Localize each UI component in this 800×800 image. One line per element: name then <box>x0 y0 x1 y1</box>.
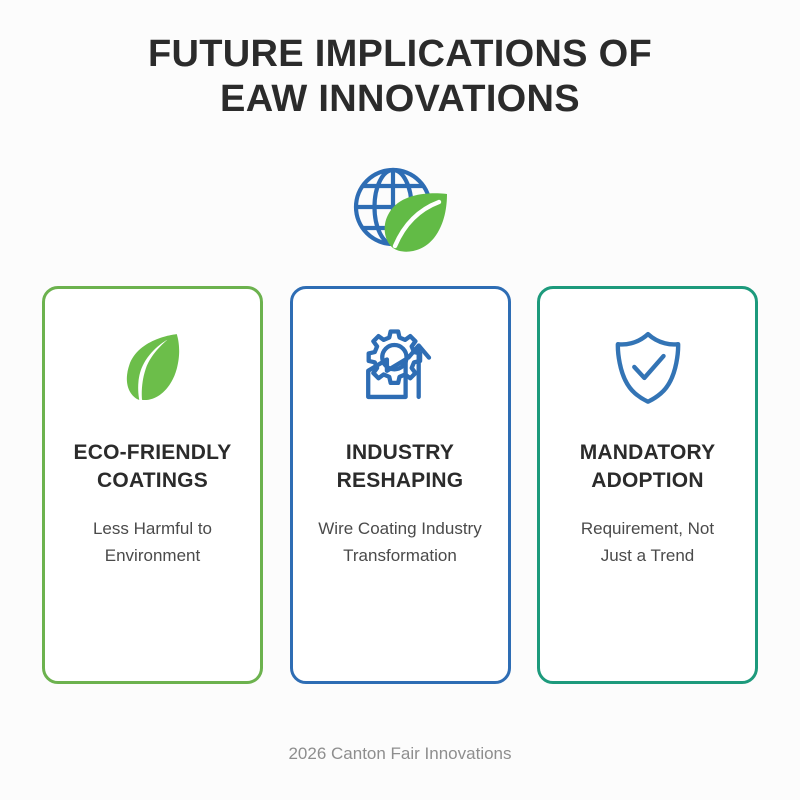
card-heading-line-1: INDUSTRY <box>346 441 454 464</box>
card-body-line-1: Less Harmful to <box>93 519 212 538</box>
cards-row: ECO-FRIENDLY COATINGS Less Harmful to En… <box>42 286 758 684</box>
card-heading: ECO-FRIENDLY COATINGS <box>66 439 240 495</box>
globe-leaf-icon <box>343 158 457 262</box>
card-heading: MANDATORY ADOPTION <box>572 439 724 495</box>
title-line-1: FUTURE IMPLICATIONS OF <box>0 32 800 77</box>
leaf-icon <box>107 321 199 413</box>
infographic-page: FUTURE IMPLICATIONS OF EAW INNOVATIONS <box>0 0 800 800</box>
card-heading-line-2: ADOPTION <box>591 469 703 492</box>
shield-check-icon <box>602 321 694 413</box>
title-line-2: EAW INNOVATIONS <box>0 77 800 122</box>
card-mandatory-adoption[interactable]: MANDATORY ADOPTION Requirement, Not Just… <box>537 286 758 684</box>
card-eco-friendly-coatings[interactable]: ECO-FRIENDLY COATINGS Less Harmful to En… <box>42 286 263 684</box>
page-title: FUTURE IMPLICATIONS OF EAW INNOVATIONS <box>0 32 800 122</box>
card-body-line-2: Transformation <box>343 546 457 565</box>
card-heading: INDUSTRY RESHAPING <box>329 439 472 495</box>
card-body-line-2: Environment <box>105 546 200 565</box>
card-heading-line-2: RESHAPING <box>337 469 464 492</box>
card-heading-line-2: COATINGS <box>97 469 208 492</box>
card-industry-reshaping[interactable]: INDUSTRY RESHAPING Wire Coating Industry… <box>290 286 511 684</box>
factory-gear-growth-icon <box>354 321 446 413</box>
card-heading-line-1: ECO-FRIENDLY <box>74 441 232 464</box>
footer-caption: 2026 Canton Fair Innovations <box>0 744 800 764</box>
card-heading-line-1: MANDATORY <box>580 441 716 464</box>
card-body-line-1: Requirement, Not <box>581 519 714 538</box>
card-body: Wire Coating Industry Transformation <box>308 515 491 569</box>
card-body: Requirement, Not Just a Trend <box>571 515 724 569</box>
card-body-line-1: Wire Coating Industry <box>318 519 481 538</box>
card-body-line-2: Just a Trend <box>601 546 695 565</box>
card-body: Less Harmful to Environment <box>83 515 222 569</box>
